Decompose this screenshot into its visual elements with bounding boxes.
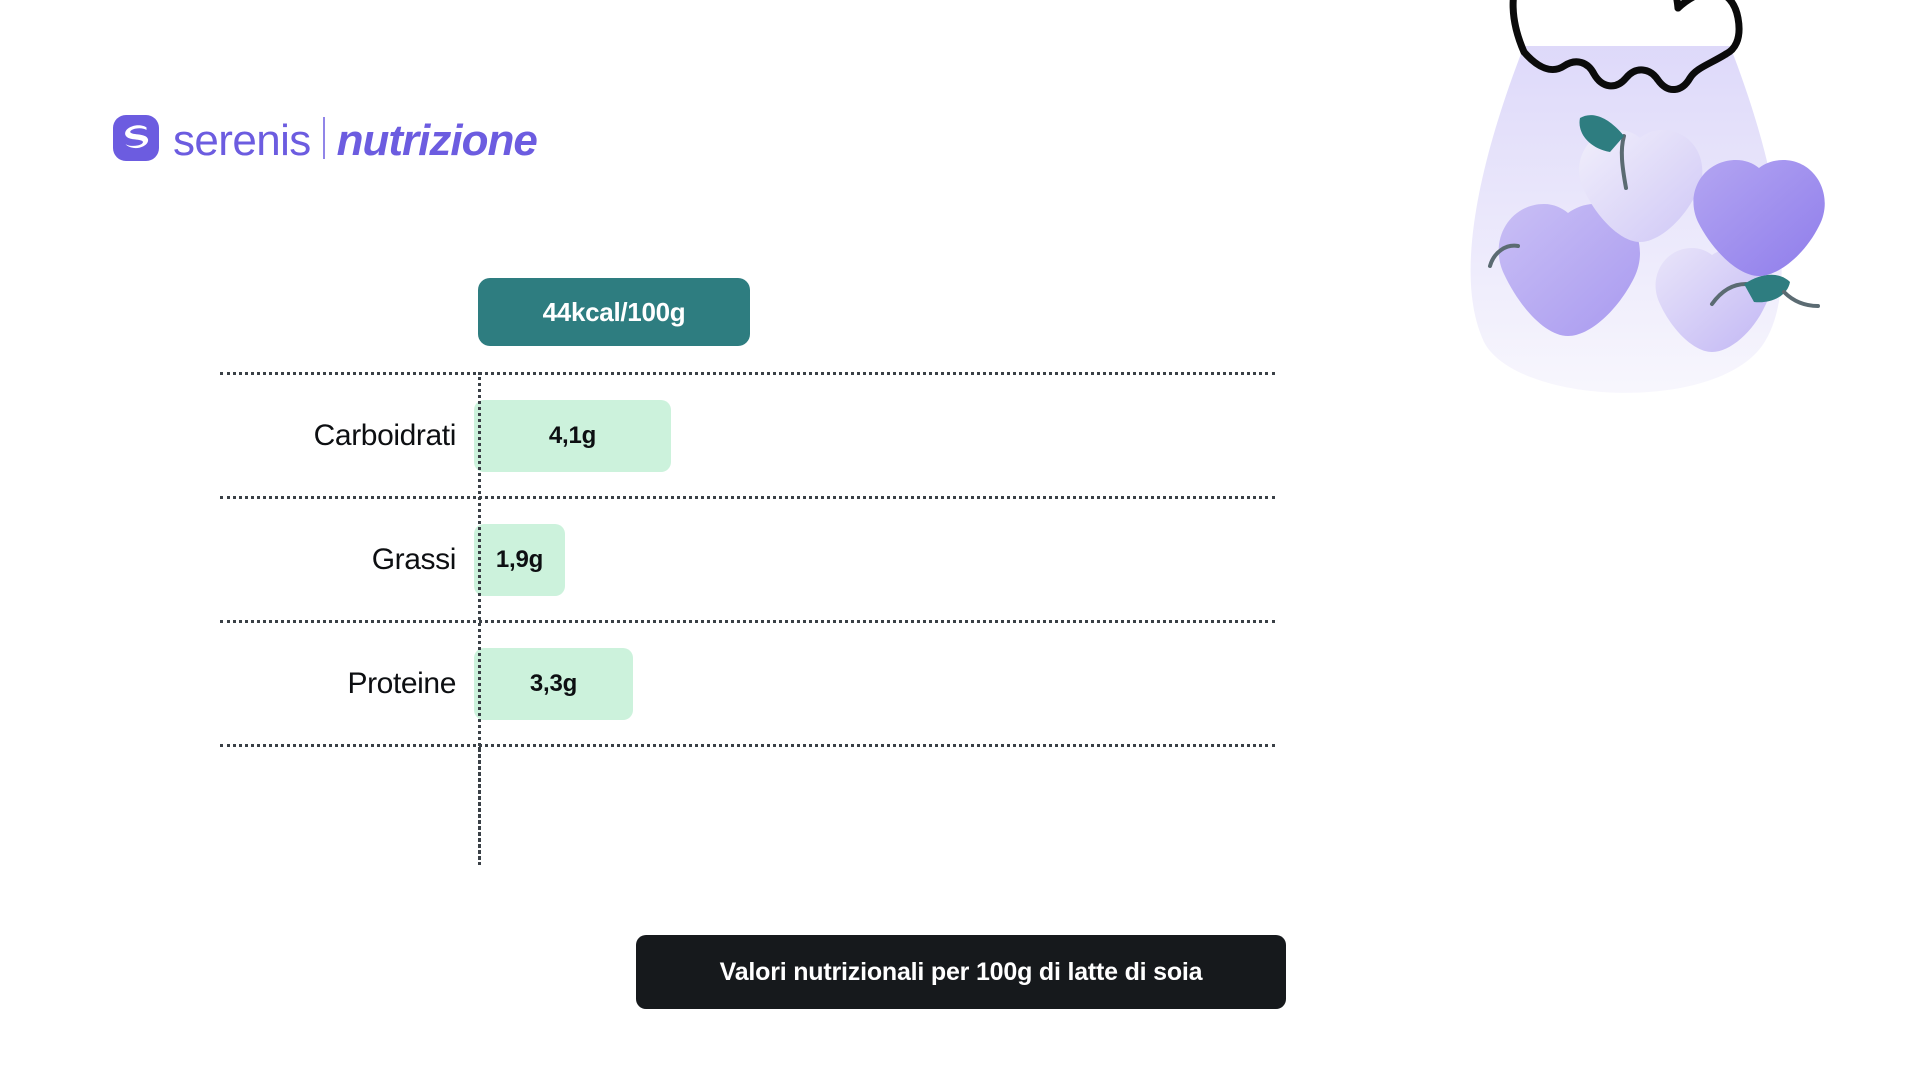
serenis-s-logo-icon (113, 115, 159, 161)
brand-logo: serenis nutrizione (113, 108, 537, 168)
row-bar-area-proteine: 3,3g (470, 623, 1275, 744)
row-bar-area-carboidrati: 4,1g (470, 375, 1275, 496)
nutrition-chart: 44kcal/100g Carboidrati 4,1g Grassi 1,9g… (220, 268, 1275, 865)
bar-carboidrati: 4,1g (474, 400, 671, 472)
chart-row-proteine: Proteine 3,3g (220, 623, 1275, 744)
chart-vertical-axis (478, 372, 481, 865)
brand-separator (323, 117, 325, 159)
bar-grassi: 1,9g (474, 524, 565, 596)
bar-proteine: 3,3g (474, 648, 633, 720)
energy-badge: 44kcal/100g (478, 278, 750, 346)
brand-name: serenis (173, 119, 311, 163)
chart-caption: Valori nutrizionali per 100g di latte di… (636, 935, 1286, 1009)
shopping-bag-with-fruit-illustration (1412, 0, 1842, 444)
axis-tail-wrapper (220, 747, 1275, 865)
brand-subbrand: nutrizione (337, 119, 537, 163)
row-bar-area-grassi: 1,9g (470, 499, 1275, 620)
row-label-grassi: Grassi (220, 543, 470, 577)
chart-grid: Carboidrati 4,1g Grassi 1,9g Proteine 3,… (220, 372, 1275, 865)
chart-row-carboidrati: Carboidrati 4,1g (220, 375, 1275, 496)
energy-row: 44kcal/100g (220, 268, 1275, 372)
row-label-proteine: Proteine (220, 667, 470, 701)
brand-wordmark: serenis nutrizione (173, 113, 537, 163)
row-label-carboidrati: Carboidrati (220, 419, 470, 453)
chart-row-grassi: Grassi 1,9g (220, 499, 1275, 620)
